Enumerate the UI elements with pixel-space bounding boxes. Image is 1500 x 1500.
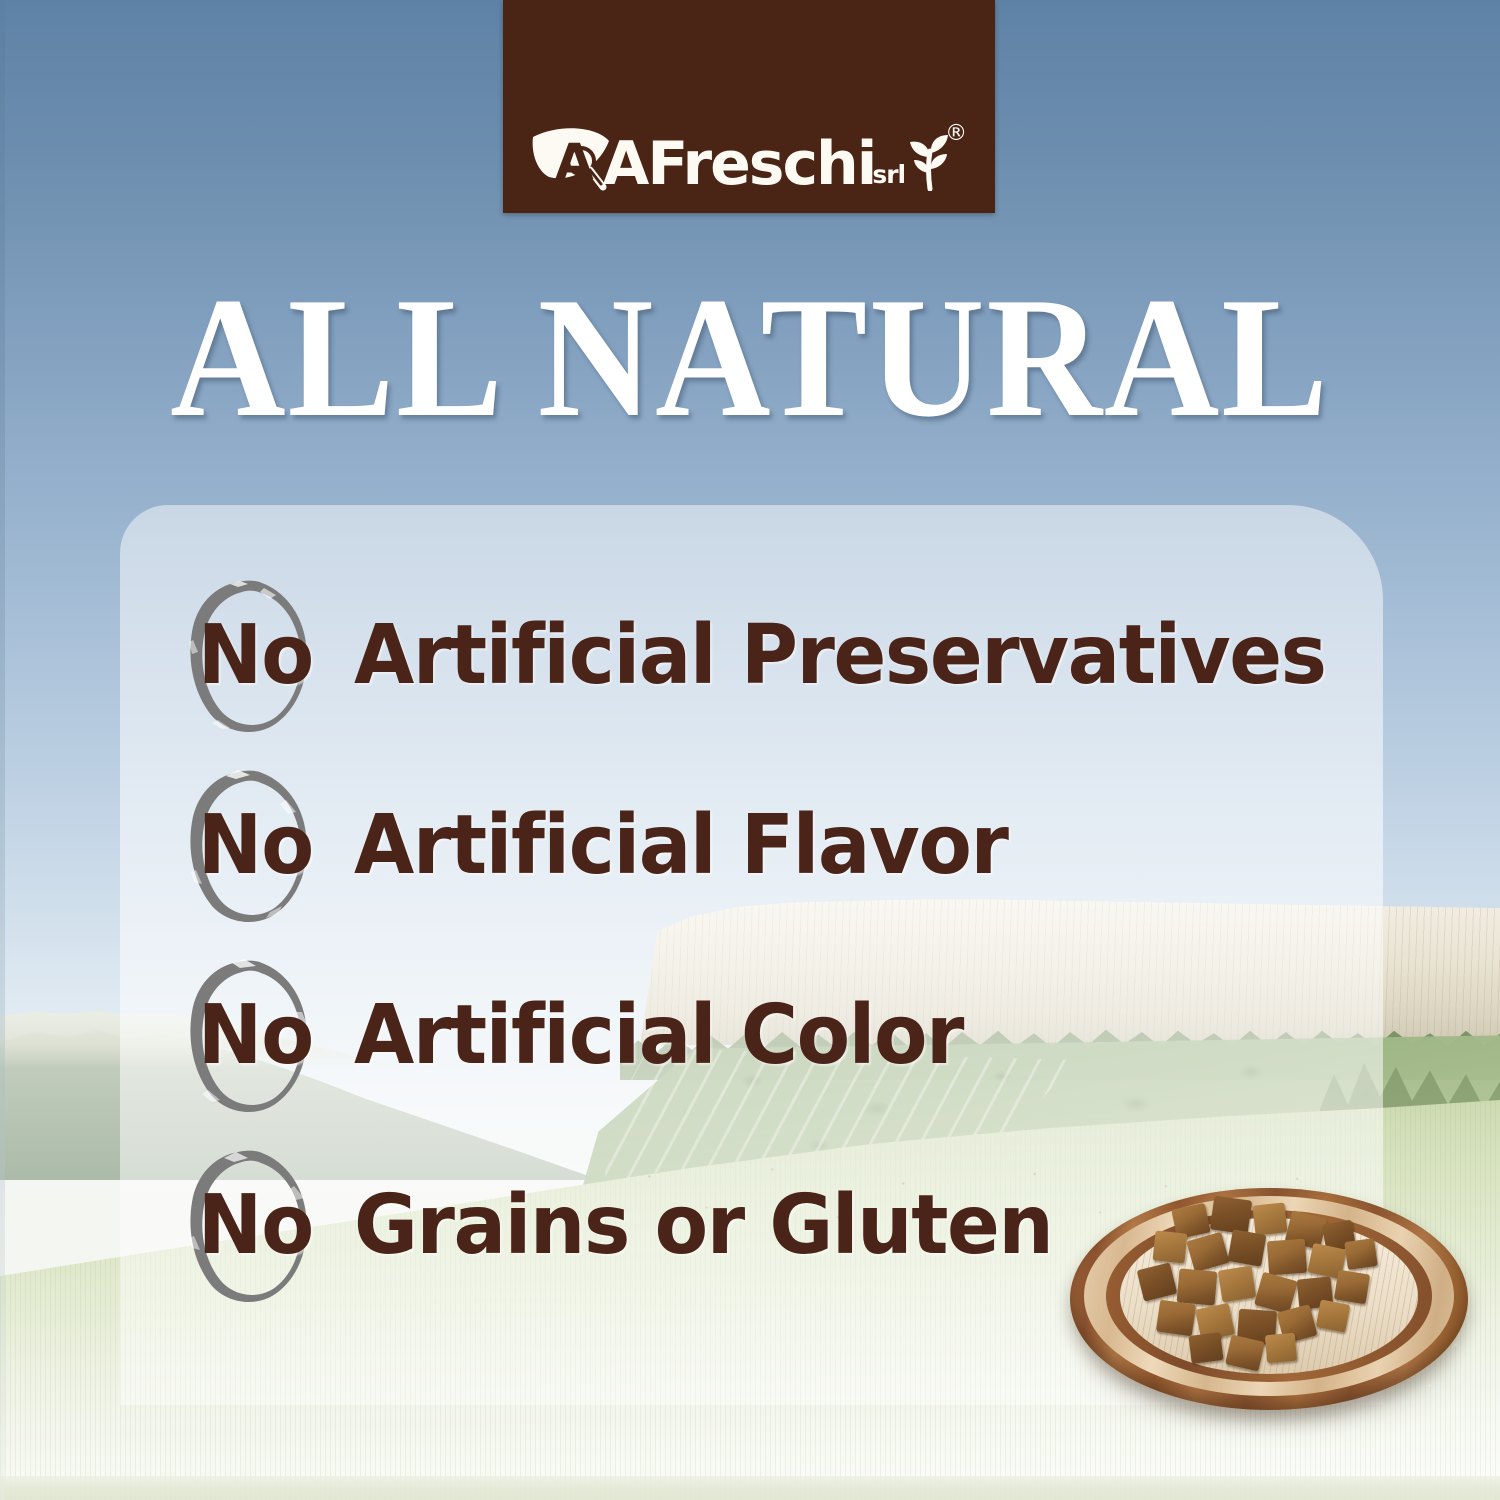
treat-piece [1227, 1229, 1266, 1266]
claim-label: Artificial Flavor [354, 798, 1007, 893]
sprout-icon [907, 127, 955, 191]
bottom-edge-band [0, 1476, 1500, 1500]
grunge-circle-icon: No [178, 760, 328, 930]
claim-prefix: No [197, 988, 313, 1083]
brand-logo-plate: A AFreschi srl ® [503, 0, 995, 213]
treat-piece [1188, 1332, 1223, 1364]
treat-piece [1267, 1239, 1307, 1276]
treat-piece [1177, 1268, 1218, 1305]
treat-piece [1253, 1202, 1288, 1235]
grunge-circle-icon: No [178, 950, 328, 1120]
brand-legal-suffix: srl [872, 160, 905, 189]
claim-prefix: No [197, 608, 313, 703]
left-edge-line [0, 0, 5, 1500]
treat-piece [1210, 1196, 1252, 1235]
treat-piece [1156, 1300, 1196, 1337]
claim-item-artificial-flavor: No Artificial Flavor [178, 750, 1438, 940]
page-title: ALL NATURAL [53, 272, 1448, 444]
leaf-magnifier-icon: A [531, 125, 613, 191]
claim-label: Artificial Color [354, 988, 963, 1083]
claim-label: Grains or Gluten [354, 1178, 1052, 1273]
grunge-circle-icon: No [178, 570, 328, 740]
svg-text:A: A [555, 133, 594, 191]
brand-logo-lockup: A AFreschi srl ® [503, 125, 995, 191]
treat-piece [1153, 1230, 1188, 1263]
claim-item-artificial-preservatives: No Artificial Preservatives [178, 560, 1438, 750]
product-feature-banner: A AFreschi srl ® ALL NATURAL [0, 0, 1500, 1500]
dog-treats-on-wooden-plate [1062, 1170, 1482, 1450]
treat-piece [1265, 1333, 1297, 1364]
treat-piece [1334, 1270, 1370, 1305]
treat-piece [1344, 1238, 1378, 1270]
claim-item-artificial-color: No Artificial Color [178, 940, 1438, 1130]
grunge-circle-icon: No [178, 1140, 328, 1310]
claim-prefix: No [197, 798, 313, 893]
treat-piece [1316, 1299, 1351, 1332]
treat-piece [1218, 1266, 1257, 1303]
claim-label: Artificial Preservatives [354, 608, 1326, 703]
claim-prefix: No [197, 1178, 313, 1273]
brand-wordmark: AFreschi [603, 137, 875, 191]
